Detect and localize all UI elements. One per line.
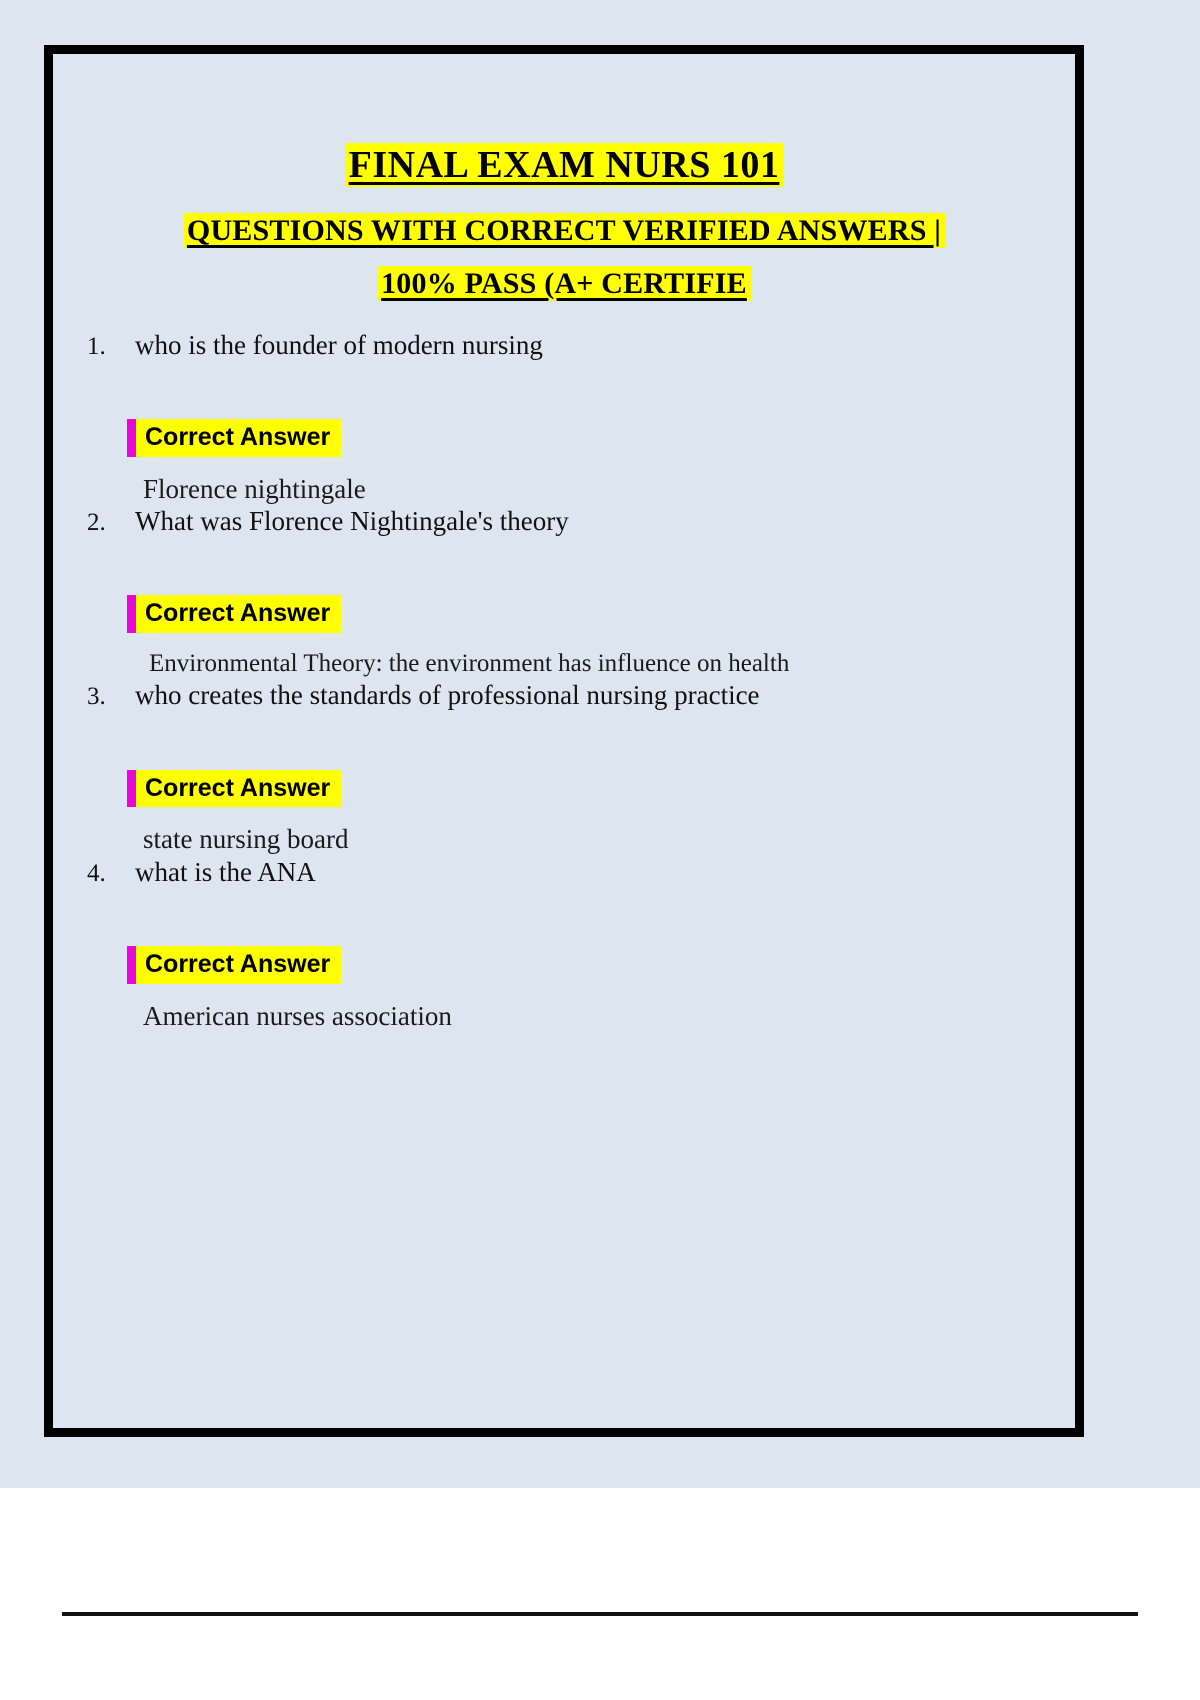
correct-answer-label: Correct Answer (145, 599, 330, 627)
title-main-text: FINAL EXAM NURS 101 (345, 143, 784, 187)
question-answer-list: 1. who is the founder of modern nursing … (53, 329, 1075, 1033)
title-line-subtitle-2: 100% PASS (A+ CERTIFIE (53, 265, 1075, 303)
correct-answer-label: Correct Answer (145, 423, 330, 451)
answer-text: Environmental Theory: the environment ha… (149, 649, 1075, 679)
question-number: 2. (87, 509, 135, 537)
answer-block: Correct Answer American nurses associati… (53, 946, 1075, 1032)
answer-block: Correct Answer Florence nightingale (53, 419, 1075, 505)
document-content: FINAL EXAM NURS 101 QUESTIONS WITH CORRE… (53, 54, 1075, 1428)
list-item: 2. What was Florence Nightingale's theor… (53, 505, 1075, 679)
answer-text: American nurses association (143, 1000, 1075, 1032)
answer-marker-bar-icon (127, 419, 136, 457)
question-text: who creates the standards of professiona… (135, 679, 760, 711)
question-row: 4. what is the ANA (53, 856, 1075, 888)
answer-marker-bar-icon (127, 595, 136, 633)
correct-answer-badge: Correct Answer (135, 419, 342, 457)
question-number: 3. (87, 683, 135, 711)
document-title-block: FINAL EXAM NURS 101 QUESTIONS WITH CORRE… (53, 54, 1075, 303)
document-border-frame: FINAL EXAM NURS 101 QUESTIONS WITH CORRE… (44, 45, 1084, 1437)
question-text: What was Florence Nightingale's theory (135, 505, 569, 537)
correct-answer-badge: Correct Answer (135, 595, 342, 633)
question-row: 2. What was Florence Nightingale's theor… (53, 505, 1075, 537)
page-footer-rule (62, 1612, 1138, 1616)
list-item: 3. who creates the standards of professi… (53, 679, 1075, 856)
answer-marker-bar-icon (127, 946, 136, 984)
page-bottom-margin (0, 1488, 1200, 1700)
title-subtitle-1-text: QUESTIONS WITH CORRECT VERIFIED ANSWERS … (183, 213, 945, 248)
question-row: 1. who is the founder of modern nursing (53, 329, 1075, 361)
title-line-subtitle-1: QUESTIONS WITH CORRECT VERIFIED ANSWERS … (53, 212, 1075, 250)
answer-text: state nursing board (143, 823, 1075, 855)
correct-answer-label: Correct Answer (145, 774, 330, 802)
answer-text: Florence nightingale (143, 473, 1075, 505)
list-item: 4. what is the ANA Correct Answer Americ… (53, 856, 1075, 1033)
title-line-main: FINAL EXAM NURS 101 (53, 142, 1075, 190)
answer-block: Correct Answer state nursing board (53, 770, 1075, 856)
question-number: 4. (87, 860, 135, 888)
answer-block: Correct Answer Environmental Theory: the… (53, 595, 1075, 679)
document-page: FINAL EXAM NURS 101 QUESTIONS WITH CORRE… (0, 0, 1200, 1700)
correct-answer-badge: Correct Answer (135, 770, 342, 808)
title-subtitle-2-text: 100% PASS (A+ CERTIFIE (377, 266, 751, 301)
correct-answer-label: Correct Answer (145, 950, 330, 978)
question-number: 1. (87, 333, 135, 361)
answer-marker-bar-icon (127, 770, 136, 808)
question-text: what is the ANA (135, 856, 316, 888)
list-item: 1. who is the founder of modern nursing … (53, 329, 1075, 506)
question-text: who is the founder of modern nursing (135, 329, 543, 361)
question-row: 3. who creates the standards of professi… (53, 679, 1075, 711)
correct-answer-badge: Correct Answer (135, 946, 342, 984)
